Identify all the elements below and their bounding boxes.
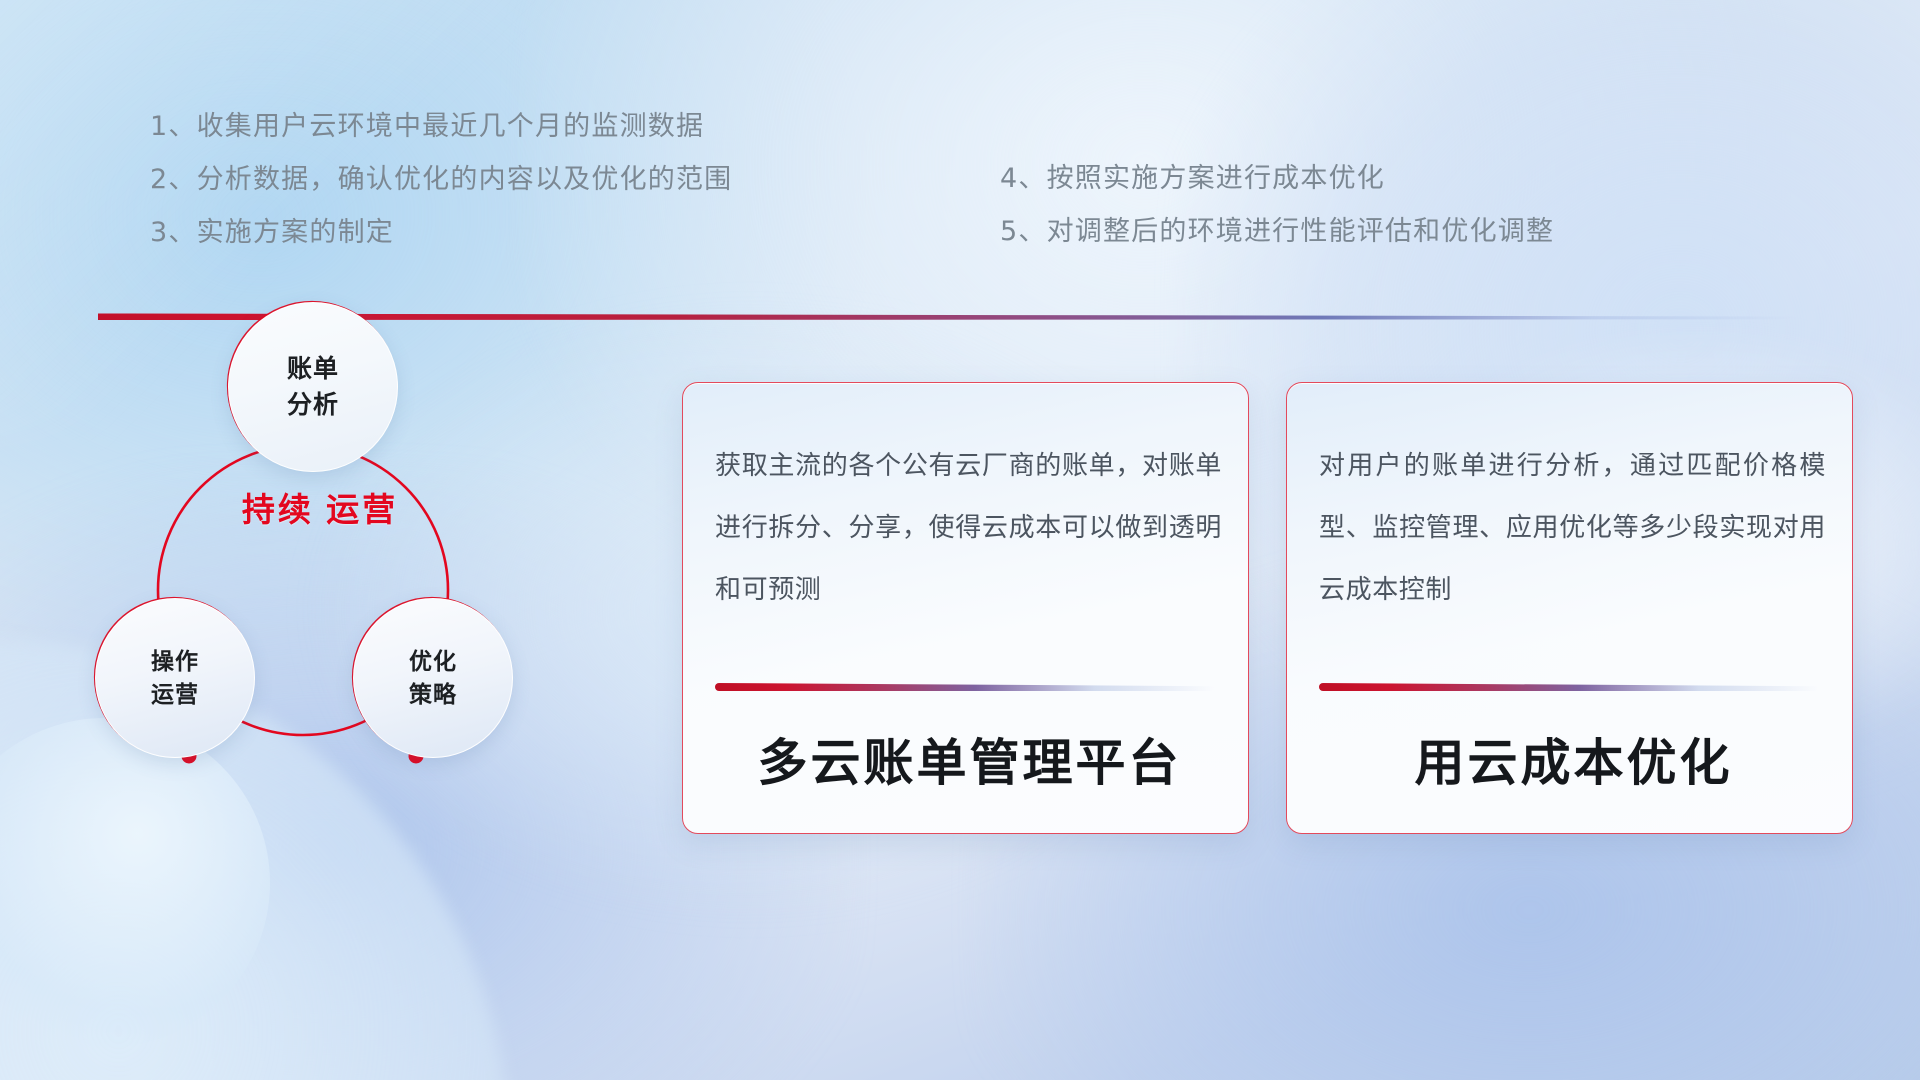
node-bill-analysis-line1: 账单 [287,351,339,387]
steps-section: 1、收集用户云环境中最近几个月的监测数据 2、分析数据，确认优化的内容以及优化的… [0,0,1920,290]
step-item-5: 5、对调整后的环境进行性能评估和优化调整 [1000,205,1554,258]
step-item-1: 1、收集用户云环境中最近几个月的监测数据 [150,100,732,153]
step-item-4: 4、按照实施方案进行成本优化 [1000,152,1554,205]
node-bill-analysis-line2: 分析 [287,387,339,423]
node-operation-management-line1: 操作 [151,645,199,678]
node-operation-management[interactable]: 操作 运营 [95,598,255,758]
slide-canvas: 1、收集用户云环境中最近几个月的监测数据 2、分析数据，确认优化的内容以及优化的… [0,0,1920,1080]
step-item-3: 3、实施方案的制定 [150,206,732,259]
node-operation-management-line2: 运营 [151,678,199,711]
steps-right-column: 4、按照实施方案进行成本优化 5、对调整后的环境进行性能评估和优化调整 [1000,152,1554,258]
steps-left-column: 1、收集用户云环境中最近几个月的监测数据 2、分析数据，确认优化的内容以及优化的… [150,100,732,259]
card-cloud-cost-optimization[interactable]: 对用户的账单进行分析，通过匹配价格模型、监控管理、应用优化等多少段实现对用云成本… [1286,382,1853,834]
diagram-center-label-line2: 运营 [326,491,398,528]
card-2-divider [1319,683,1819,691]
card-multicloud-billing-platform[interactable]: 获取主流的各个公有云厂商的账单，对账单进行拆分、分享，使得云成本可以做到透明和可… [682,382,1249,834]
continuous-operation-diagram: 账单 分析 操作 运营 优化 策略 持续 运营 [85,290,545,780]
node-bill-analysis[interactable]: 账单 分析 [228,302,398,472]
diagram-center-label-line1: 持续 [242,491,314,528]
card-2-body: 对用户的账单进行分析，通过匹配价格模型、监控管理、应用优化等多少段实现对用云成本… [1319,435,1826,621]
card-1-body: 获取主流的各个公有云厂商的账单，对账单进行拆分、分享，使得云成本可以做到透明和可… [715,435,1222,621]
diagram-center-label: 持续 运营 [235,486,405,533]
node-optimization-strategy-line1: 优化 [409,645,457,678]
card-1-title: 多云账单管理平台 [711,723,1228,795]
node-optimization-strategy-line2: 策略 [409,678,457,711]
card-2-title: 用云成本优化 [1315,723,1832,795]
step-item-2: 2、分析数据，确认优化的内容以及优化的范围 [150,153,732,206]
node-optimization-strategy[interactable]: 优化 策略 [353,598,513,758]
card-1-divider [715,683,1215,691]
